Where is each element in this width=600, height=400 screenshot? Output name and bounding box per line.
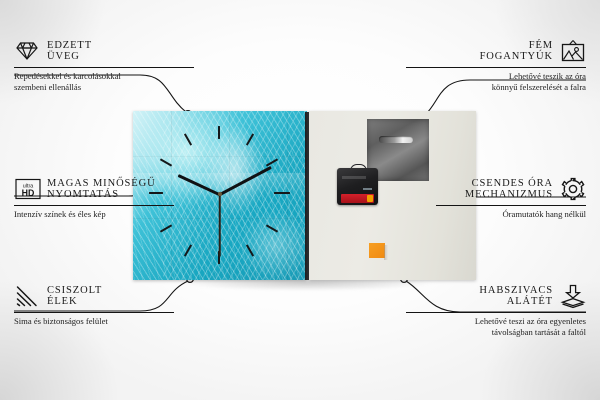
feature-title: HABSZIVACS ALÁTÉT — [479, 285, 553, 307]
feature-title: MAGAS MINŐSÉGŰ NYOMTATÁS — [47, 178, 156, 200]
feature-description: Lehetővé teszi az óra egyenletes távolsá… — [406, 316, 586, 338]
hanger-slot — [379, 136, 413, 143]
divider — [436, 205, 586, 206]
arrow-onto-pad-icon — [560, 283, 586, 309]
feature-title: CSISZOLT ÉLEK — [47, 285, 102, 307]
feature-title: FÉM FOGANTYÚK — [480, 40, 553, 62]
feature-description: Lehetővé teszik az óra könnyű felszerelé… — [406, 71, 586, 93]
clock-center-cap — [218, 192, 222, 196]
feature-description: Sima és biztonságos felület — [14, 316, 174, 327]
battery-compartment — [341, 194, 374, 203]
feature-metal-hangers: FÉM FOGANTYÚK Lehetővé teszik az óra kön… — [406, 38, 586, 93]
svg-text:HD: HD — [22, 188, 35, 198]
foam-pad — [369, 243, 385, 258]
diamond-icon — [14, 38, 40, 64]
divider — [14, 312, 174, 313]
feature-high-quality-print: ultra HD MAGAS MINŐSÉGŰ NYOMTATÁS Intenz… — [14, 176, 174, 220]
feature-description: Intenzív színek és éles kép — [14, 209, 174, 220]
picture-frame-icon — [560, 38, 586, 64]
feature-title: CSENDES ÓRA MECHANIZMUS — [465, 178, 553, 200]
feature-description: Repedésekkel és karcolásokkal szembeni e… — [14, 71, 194, 93]
feature-description: Óramutatók hang nélkül — [436, 209, 586, 220]
divider — [406, 312, 586, 313]
divider — [14, 205, 174, 206]
polished-edges-icon — [14, 283, 40, 309]
feature-silent-mechanism: CSENDES ÓRA MECHANIZMUS — [436, 176, 586, 220]
product-image — [133, 111, 476, 281]
ultra-hd-badge-icon: ultra HD — [14, 176, 40, 202]
divider — [406, 67, 586, 68]
divider — [14, 67, 194, 68]
clock-mechanism — [337, 164, 378, 205]
feature-polished-edges: CSISZOLT ÉLEK Sima és biztonságos felüle… — [14, 283, 174, 327]
gear-icon — [560, 176, 586, 202]
feature-title: EDZETT ÜVEG — [47, 40, 92, 62]
product-feature-infographic: EDZETT ÜVEG Repedésekkel és karcolásokka… — [0, 0, 600, 400]
feature-tempered-glass: EDZETT ÜVEG Repedésekkel és karcolásokka… — [14, 38, 194, 93]
feature-foam-underlay: HABSZIVACS ALÁTÉT Lehetővé teszi az óra … — [406, 283, 586, 338]
mechanism-housing — [337, 168, 378, 205]
